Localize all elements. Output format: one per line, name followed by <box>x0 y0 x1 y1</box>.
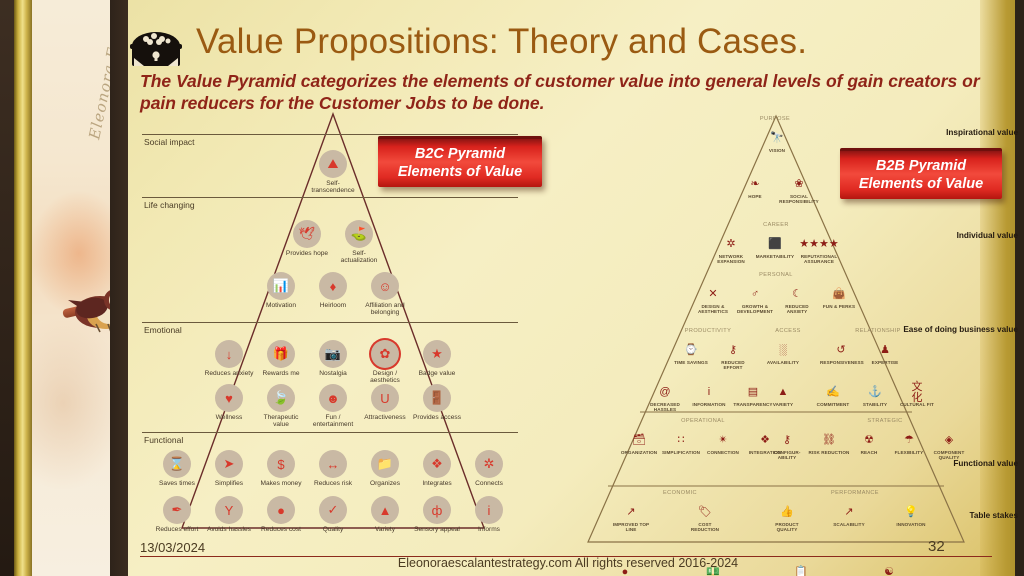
swirl-icon: @ <box>657 384 674 401</box>
b2b-element-label: CONFIGUR-ABILITY <box>766 450 808 461</box>
dots-circle-icon: ∷ <box>673 432 690 449</box>
expand-arrow-icon: ↗ <box>841 504 858 521</box>
b2c-element-label: Self-actualization <box>334 250 384 265</box>
b2b-element-flexibility: ☂FLEXIBILITY <box>888 432 930 455</box>
b2c-element-label: Attractiveness <box>360 414 410 421</box>
price-tag-icon: 🏷 <box>697 504 714 521</box>
b2c-element-wellness: ♥Wellness <box>204 384 254 421</box>
b2c-element-label: Organizes <box>360 480 410 487</box>
seatbelt-icon: ↔ <box>319 450 347 478</box>
b2b-element-decreased-hassles: @DECREASED HASSLES <box>644 384 686 413</box>
battery-star-icon: ⬛ <box>767 236 784 253</box>
b2b-element-label: SOCIAL RESPONSIBILITY <box>778 194 820 205</box>
b2c-element-label: Simplifies <box>204 480 254 487</box>
b2b-element-cost-reduction: 🏷COST REDUCTION <box>684 504 726 533</box>
b2c-element-label: Affiliation and belonging <box>360 302 410 317</box>
old-camera-icon: 📷 <box>319 340 347 368</box>
b2b-element-social-responsibility: ❀SOCIAL RESPONSIBILITY <box>778 176 820 205</box>
b2c-element-self-transcendence: ⛰Self-transcendence <box>308 150 358 195</box>
b2c-divider-functional <box>142 432 518 433</box>
b2b-element-label: NETWORK EXPANSION <box>710 254 752 265</box>
b2b-element-label: STABILITY <box>854 402 896 407</box>
b2c-level-label-social-impact: Social impact <box>144 137 195 147</box>
b2c-element-design-aesthetics: ✿Design / aesthetics <box>360 340 410 385</box>
b2b-element-variety: ▲VARIETY <box>762 384 804 407</box>
b2c-element-informs: iInforms <box>464 496 514 533</box>
bar-chart-runner-icon: 📊 <box>267 272 295 300</box>
brushes-icon: ✕ <box>705 286 722 303</box>
b2b-section-header-access: ACCESS <box>760 328 816 334</box>
b2b-element-product-quality: 👍PRODUCT QUALITY <box>766 504 808 533</box>
magnet-icon: U <box>371 384 399 412</box>
b2b-element-label: FUN & PERKS <box>818 304 860 309</box>
info-circle-icon: i <box>701 384 718 401</box>
b2b-element-marketability: ⬛MARKETABILITY <box>754 236 796 259</box>
b2c-element-label: Provides access <box>412 414 462 421</box>
b2b-element-cultural-fit: 文化CULTURAL FIT <box>896 384 938 407</box>
b2c-element-quality: ✓Quality <box>308 496 358 533</box>
b2c-pyramid-badge: B2C Pyramid Elements of Value <box>378 136 542 187</box>
b2c-element-organizes: 📁Organizes <box>360 450 410 487</box>
slide-date: 13/03/2024 <box>140 540 205 555</box>
b2b-element-commitment: ✍COMMITMENT <box>812 384 854 407</box>
leaf-icon: 🍃 <box>267 384 295 412</box>
b2c-divider-social <box>142 134 518 135</box>
b2c-element-label: Variety <box>360 526 410 533</box>
b2b-element-label: AVAILABILITY <box>762 360 804 365</box>
expert-person-icon: ♟ <box>877 342 894 359</box>
b2b-element-responsiveness: ↺RESPONSIVENESS <box>820 342 862 365</box>
b2c-element-label: Self-transcendence <box>308 180 358 195</box>
b2b-element-innovation: 💡INNOVATION <box>890 504 932 527</box>
b2c-element-reduces-effort: ✒Reduces effort <box>152 496 202 533</box>
shapes-variety-icon: ▲ <box>775 384 792 401</box>
b2c-element-provides-hope: 🕊Provides hope <box>282 220 332 257</box>
b2b-element-configur-ability: ⚷CONFIGUR-ABILITY <box>766 432 808 461</box>
b2b-element-reputational-assurance: ★★★★REPUTATIONAL ASSURANCE <box>798 236 840 265</box>
b2c-element-reduces-anxiety: ↓Reduces anxiety <box>204 340 254 377</box>
b2c-element-label: Wellness <box>204 414 254 421</box>
footer-copyright: Eleonoraescalantestrategy.com All rights… <box>228 556 908 570</box>
b2c-element-label: Saves times <box>152 480 202 487</box>
page-title: Value Propositions: Theory and Cases. <box>196 22 807 62</box>
gift-icon: 🎁 <box>267 340 295 368</box>
b2c-element-label: Heirloom <box>308 302 358 309</box>
palette-icon: ✿ <box>371 340 399 368</box>
watch-icon: ⌚ <box>683 342 700 359</box>
b2b-element-label: INFORMATION <box>688 402 730 407</box>
b2c-element-affiliation-and-belonging: ☺Affiliation and belonging <box>360 272 410 317</box>
door-icon: 🚪 <box>423 384 451 412</box>
b2b-element-label: VISION <box>756 148 798 153</box>
mountain-climber-icon: ⛰ <box>319 150 347 178</box>
treasure-chest-icon <box>128 28 184 72</box>
b2b-section-header-purpose: PURPOSE <box>720 116 830 122</box>
b2b-element-connection: ✴CONNECTION <box>702 432 744 455</box>
flow-arrow-icon: ➤ <box>215 450 243 478</box>
b2b-element-label: HOPE <box>734 194 776 199</box>
b2b-element-label: SIMPLIFICATION <box>660 450 702 455</box>
b2b-element-design-aesthetics: ✕DESIGN & AESTHETICS <box>692 286 734 315</box>
antenna-icon: ☢ <box>861 432 878 449</box>
folder-icon: 📁 <box>371 450 399 478</box>
b2c-divider-life <box>142 197 518 198</box>
b2b-element-time-savings: ⌚TIME SAVINGS <box>670 342 712 365</box>
b2b-element-component-quality: ◈COMPONENT QUALITY <box>928 432 970 461</box>
lightbulb-icon: 💡 <box>903 504 920 521</box>
b2b-element-hope: ❧HOPE <box>734 176 776 199</box>
growth-icon: ♂ <box>747 286 764 303</box>
b2c-level-label-life-changing: Life changing <box>144 200 195 210</box>
b2b-side-label-functional: Functional value <box>953 459 1018 468</box>
b2b-element-network-expansion: ✲NETWORK EXPANSION <box>710 236 752 265</box>
b2c-divider-emotional <box>142 322 518 323</box>
b2c-element-connects: ✲Connects <box>464 450 514 487</box>
thumbs-up-icon: 👍 <box>779 504 796 521</box>
star-node-icon: ✴ <box>715 432 732 449</box>
b2b-element-growth-development: ♂GROWTH & DEVELOPMENT <box>734 286 776 315</box>
b2c-element-label: Sensory appeal <box>412 526 462 533</box>
b2b-element-label: CULTURAL FIT <box>896 402 938 407</box>
flag-summit-icon: ⛳ <box>345 220 373 248</box>
b2c-level-label-functional: Functional <box>144 435 183 445</box>
glass-icon: ▤ <box>745 384 762 401</box>
check-circle-icon: ✓ <box>319 496 347 524</box>
b2c-element-attractiveness: UAttractiveness <box>360 384 410 421</box>
slide-root: Eleonora Escalante Value Propositions: T… <box>0 0 1024 576</box>
b2c-element-nostalgia: 📷Nostalgia <box>308 340 358 377</box>
b2b-section-header-operational: OPERATIONAL <box>640 418 766 424</box>
b2b-element-label: RISK REDUCTION <box>808 450 850 455</box>
b2b-element-label: PRODUCT QUALITY <box>766 522 808 533</box>
b2b-element-label: REDUCED EFFORT <box>712 360 754 371</box>
b2b-section-header-productivity: PRODUCTIVITY <box>660 328 756 334</box>
b2b-element-organization: 🗃ORGANIZATION <box>618 432 660 455</box>
b2c-element-avoids-hassles: YAvoids hassles <box>204 496 254 533</box>
b2c-element-integrates: ❖Integrates <box>412 450 462 487</box>
b2b-element-risk-reduction: ⛓RISK REDUCTION <box>808 432 850 455</box>
b2c-element-rewards-me: 🎁Rewards me <box>256 340 306 377</box>
b2b-element-reduced-effort: ⚷REDUCED EFFORT <box>712 342 754 371</box>
b2c-element-label: Integrates <box>412 480 462 487</box>
info-icon: i <box>475 496 503 524</box>
b2c-element-label: Quality <box>308 526 358 533</box>
b2b-element-fun-perks: 👜FUN & PERKS <box>818 286 860 309</box>
b2b-element-label: VARIETY <box>762 402 804 407</box>
b2c-element-reduces-risk: ↔Reduces risk <box>308 450 358 487</box>
b2b-element-label: ORGANIZATION <box>618 450 660 455</box>
network-icon: ✲ <box>723 236 740 253</box>
growth-chart-icon: ↗ <box>623 504 640 521</box>
b2c-element-self-actualization: ⛳Self-actualization <box>334 220 384 265</box>
diamond-icon: ♦ <box>319 272 347 300</box>
b2c-element-label: Design / aesthetics <box>360 370 410 385</box>
b2b-element-label: IMPROVED TOP LINE <box>610 522 652 533</box>
b2c-element-label: Informs <box>464 526 514 533</box>
feather-icon: ✒ <box>163 496 191 524</box>
b2b-element-information: iINFORMATION <box>688 384 730 407</box>
b2c-element-label: Therapeutic value <box>256 414 306 429</box>
kanji-icon: 文化 <box>909 384 926 401</box>
b2b-section-header-personal: PERSONAL <box>708 272 844 278</box>
b2c-element-motivation: 📊Motivation <box>256 272 306 309</box>
b2b-element-label: MARKETABILITY <box>754 254 796 259</box>
page-number: 32 <box>928 538 945 555</box>
coins-icon: ● <box>267 496 295 524</box>
b2b-element-reduced-anxiety: ☾REDUCED ANXIETY <box>776 286 818 315</box>
b2b-element-availability: ░AVAILABILITY <box>762 342 804 365</box>
b2b-element-label: RESPONSIVENESS <box>820 360 862 365</box>
anchor-icon: ⚓ <box>867 384 884 401</box>
slide-canvas: Value Propositions: Theory and Cases. Th… <box>128 0 1024 576</box>
left-dark-edge <box>0 0 14 576</box>
b2b-element-label: COST REDUCTION <box>684 522 726 533</box>
b2b-section-header-economic: ECONOMIC <box>620 490 740 496</box>
b2c-element-therapeutic-value: 🍃Therapeutic value <box>256 384 306 429</box>
b2c-element-label: Nostalgia <box>308 370 358 377</box>
ribbon-icon: ❧ <box>747 176 764 193</box>
b2b-element-label: COMMITMENT <box>812 402 854 407</box>
b2c-badge-line1: B2C Pyramid <box>398 145 522 163</box>
b2c-element-reduces-cost: ●Reduces cost <box>256 496 306 533</box>
b2c-element-variety: ▲Variety <box>360 496 410 533</box>
hands-globe-icon: ❀ <box>791 176 808 193</box>
file-box-icon: 🗃 <box>631 432 648 449</box>
b2b-element-label: GROWTH & DEVELOPMENT <box>734 304 776 315</box>
b2b-section-header-career: CAREER <box>708 222 844 228</box>
reply-arrow-icon: ↺ <box>833 342 850 359</box>
b2b-element-improved-top-line: ↗IMPROVED TOP LINE <box>610 504 652 533</box>
page-subtitle: The Value Pyramid categorizes the elemen… <box>140 70 1006 114</box>
b2c-element-heirloom: ♦Heirloom <box>308 272 358 309</box>
b2b-side-label-ease: Ease of doing business value <box>903 325 1018 334</box>
b2c-element-label: Connects <box>464 480 514 487</box>
b2b-element-label: TIME SAVINGS <box>670 360 712 365</box>
b2c-element-label: Makes money <box>256 480 306 487</box>
b2b-element-reach: ☢REACH <box>848 432 890 455</box>
b2b-element-label: SCALABILITY <box>828 522 870 527</box>
b2b-element-label: CONNECTION <box>702 450 744 455</box>
gem-sparkle-icon: ◈ <box>941 432 958 449</box>
b2b-element-expertise: ♟EXPERTISE <box>864 342 906 365</box>
b2c-element-label: Reduces risk <box>308 480 358 487</box>
b2c-element-label: Rewards me <box>256 370 306 377</box>
b2c-element-label: Motivation <box>256 302 306 309</box>
panel-divider <box>110 0 128 576</box>
arch-icon: ☂ <box>901 432 918 449</box>
key-gear-icon: ⚷ <box>779 432 796 449</box>
b2c-element-provides-access: 🚪Provides access <box>412 384 462 421</box>
b2c-element-label: Reduces anxiety <box>204 370 254 377</box>
b2c-element-makes-money: $Makes money <box>256 450 306 487</box>
b2b-side-label-individual: Individual value <box>957 231 1018 240</box>
b2c-element-label: Fun / entertainment <box>308 414 358 429</box>
heart-pulse-icon: ♥ <box>215 384 243 412</box>
calendar-grid-icon: ░ <box>775 342 792 359</box>
person-lift-icon: ⚷ <box>725 342 742 359</box>
b2c-element-saves-times: ⌛Saves times <box>152 450 202 487</box>
watercolor-panel: Eleonora Escalante <box>32 0 110 576</box>
b2c-element-label: Reduces cost <box>256 526 306 533</box>
b2b-element-scalability: ↗SCALABILITY <box>828 504 870 527</box>
b2b-element-stability: ⚓STABILITY <box>854 384 896 407</box>
stars-document-icon: ★★★★ <box>811 236 828 253</box>
b2b-element-simplification: ∷SIMPLIFICATION <box>660 432 702 455</box>
ear-icon: ф <box>423 496 451 524</box>
b2c-element-simplifies: ➤Simplifies <box>204 450 254 487</box>
b2b-side-label-table-stakes: Table stakes <box>969 511 1018 520</box>
b2b-element-label: REACH <box>848 450 890 455</box>
b2b-element-label: REDUCED ANXIETY <box>776 304 818 315</box>
links-icon: ⛓ <box>821 432 838 449</box>
b2c-element-fun-entertainment: ☻Fun / entertainment <box>308 384 358 429</box>
b2c-level-label-emotional: Emotional <box>144 325 182 335</box>
people-circle-icon: ☺ <box>371 272 399 300</box>
b2b-section-header-performance: PERFORMANCE <box>790 490 920 496</box>
down-arrows-icon: ↓ <box>215 340 243 368</box>
bag-icon: 👜 <box>831 286 848 303</box>
smiley-balloon-icon: ☻ <box>319 384 347 412</box>
b2b-element-label: DESIGN & AESTHETICS <box>692 304 734 315</box>
handshake-icon: ✍ <box>825 384 842 401</box>
sleep-zzz-icon: ☾ <box>789 286 806 303</box>
right-dark-edge <box>1015 0 1024 576</box>
hourglass-icon: ⌛ <box>163 450 191 478</box>
b2b-element-label: DECREASED HASSLES <box>644 402 686 413</box>
b2c-element-label: Provides hope <box>282 250 332 257</box>
b2b-element-label: INNOVATION <box>890 522 932 527</box>
b2b-element-label: EXPERTISE <box>864 360 906 365</box>
b2c-element-label: Badge value <box>412 370 462 377</box>
b2c-element-badge-value: ★Badge value <box>412 340 462 377</box>
b2c-element-sensory-appeal: фSensory appeal <box>412 496 462 533</box>
puzzle-icon: ❖ <box>423 450 451 478</box>
b2c-badge-line2: Elements of Value <box>398 163 522 181</box>
b2c-element-label: Avoids hassles <box>204 526 254 533</box>
dove-icon: 🕊 <box>293 220 321 248</box>
b2b-section-header-strategic: STRATEGIC <box>830 418 940 424</box>
laptop-coin-icon: $ <box>267 450 295 478</box>
network-node-icon: ✲ <box>475 450 503 478</box>
b2b-element-label: FLEXIBILITY <box>888 450 930 455</box>
shapes-icon: ▲ <box>371 496 399 524</box>
person-shine-icon: ★ <box>423 340 451 368</box>
b2c-element-label: Reduces effort <box>152 526 202 533</box>
b2b-element-label: REPUTATIONAL ASSURANCE <box>798 254 840 265</box>
fork-road-icon: Y <box>215 496 243 524</box>
